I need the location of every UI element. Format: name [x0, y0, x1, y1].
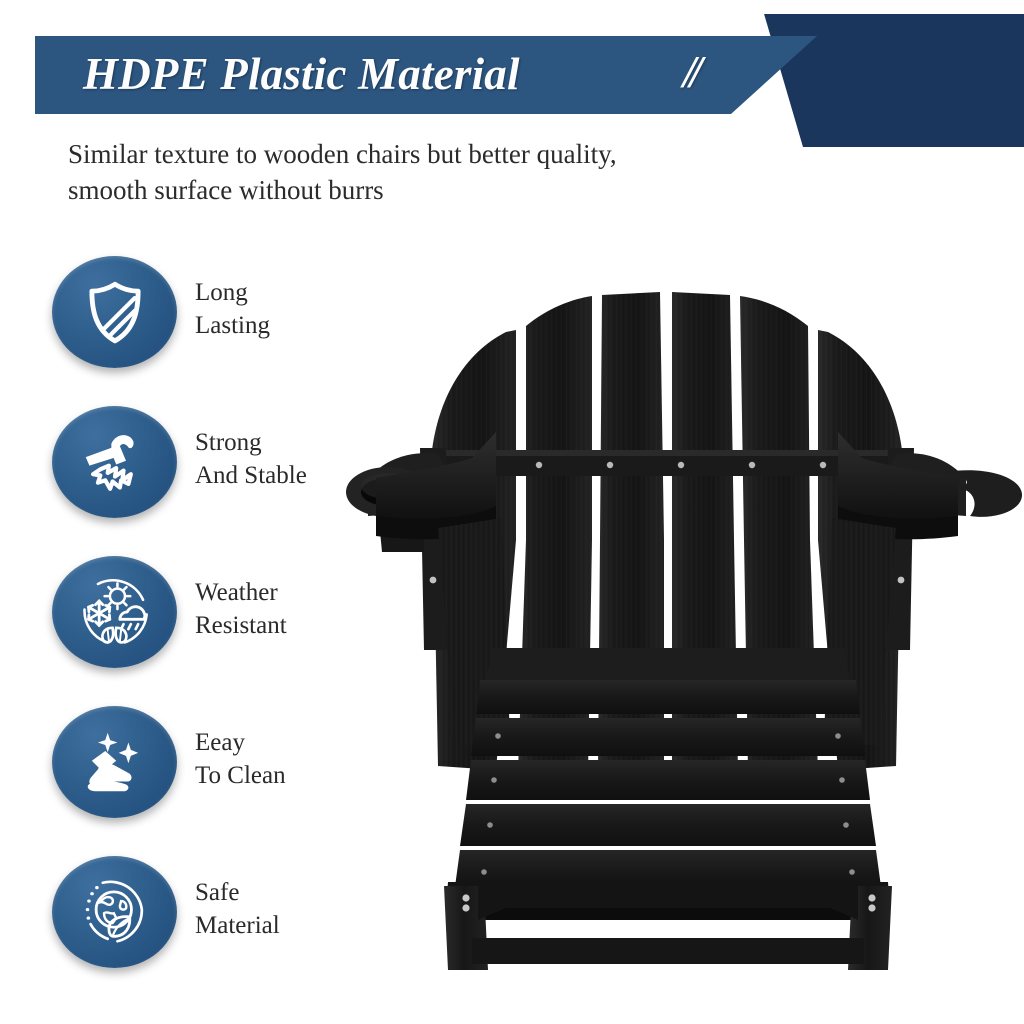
banner-slash-decoration: //: [683, 42, 697, 102]
subtitle-line-1: Similar texture to wooden chairs but bet…: [68, 136, 768, 172]
feature-label-line-2: Lasting: [195, 309, 270, 342]
page-title: HDPE Plastic Material: [83, 45, 520, 103]
feature-label-weather-resistant: Weather Resistant: [195, 576, 287, 642]
feature-label-line-1: Strong: [195, 426, 307, 459]
feature-item-safe-material: Safe Material: [52, 856, 352, 1006]
shield-icon: [52, 256, 177, 368]
feature-item-easy-to-clean: Eeay To Clean: [52, 706, 352, 856]
chair-seat: [450, 648, 886, 920]
feature-item-long-lasting: Long Lasting: [52, 256, 352, 406]
globe-leaf-icon: [52, 856, 177, 968]
feature-label-line-1: Eeay: [195, 726, 286, 759]
feature-label-strong-and-stable: Strong And Stable: [195, 426, 307, 492]
feature-label-line-2: To Clean: [195, 759, 286, 792]
chair-back-brace: [426, 450, 908, 476]
feature-item-weather-resistant: Weather Resistant: [52, 556, 352, 706]
hammer-impact-icon: [52, 406, 177, 518]
feature-label-line-1: Weather: [195, 576, 287, 609]
feature-label-line-1: Long: [195, 276, 270, 309]
feature-label-easy-to-clean: Eeay To Clean: [195, 726, 286, 792]
infographic-page: HDPE Plastic Material // Similar texture…: [0, 0, 1024, 1024]
feature-label-line-1: Safe: [195, 876, 280, 909]
feature-label-line-2: And Stable: [195, 459, 307, 492]
chair-base: [444, 880, 892, 970]
feature-label-line-2: Resistant: [195, 609, 287, 642]
feature-label-line-2: Material: [195, 909, 280, 942]
banner-accent-shape: [746, 14, 1024, 147]
weather-icon: [52, 556, 177, 668]
feature-label-safe-material: Safe Material: [195, 876, 280, 942]
hand-sparkle-icon: [52, 706, 177, 818]
product-image-adirondack-chair: [320, 180, 1024, 980]
feature-item-strong-and-stable: Strong And Stable: [52, 406, 352, 556]
header-banner: HDPE Plastic Material //: [0, 0, 1024, 150]
feature-list: Long Lasting Strong And Stable: [52, 256, 352, 1006]
feature-label-long-lasting: Long Lasting: [195, 276, 270, 342]
